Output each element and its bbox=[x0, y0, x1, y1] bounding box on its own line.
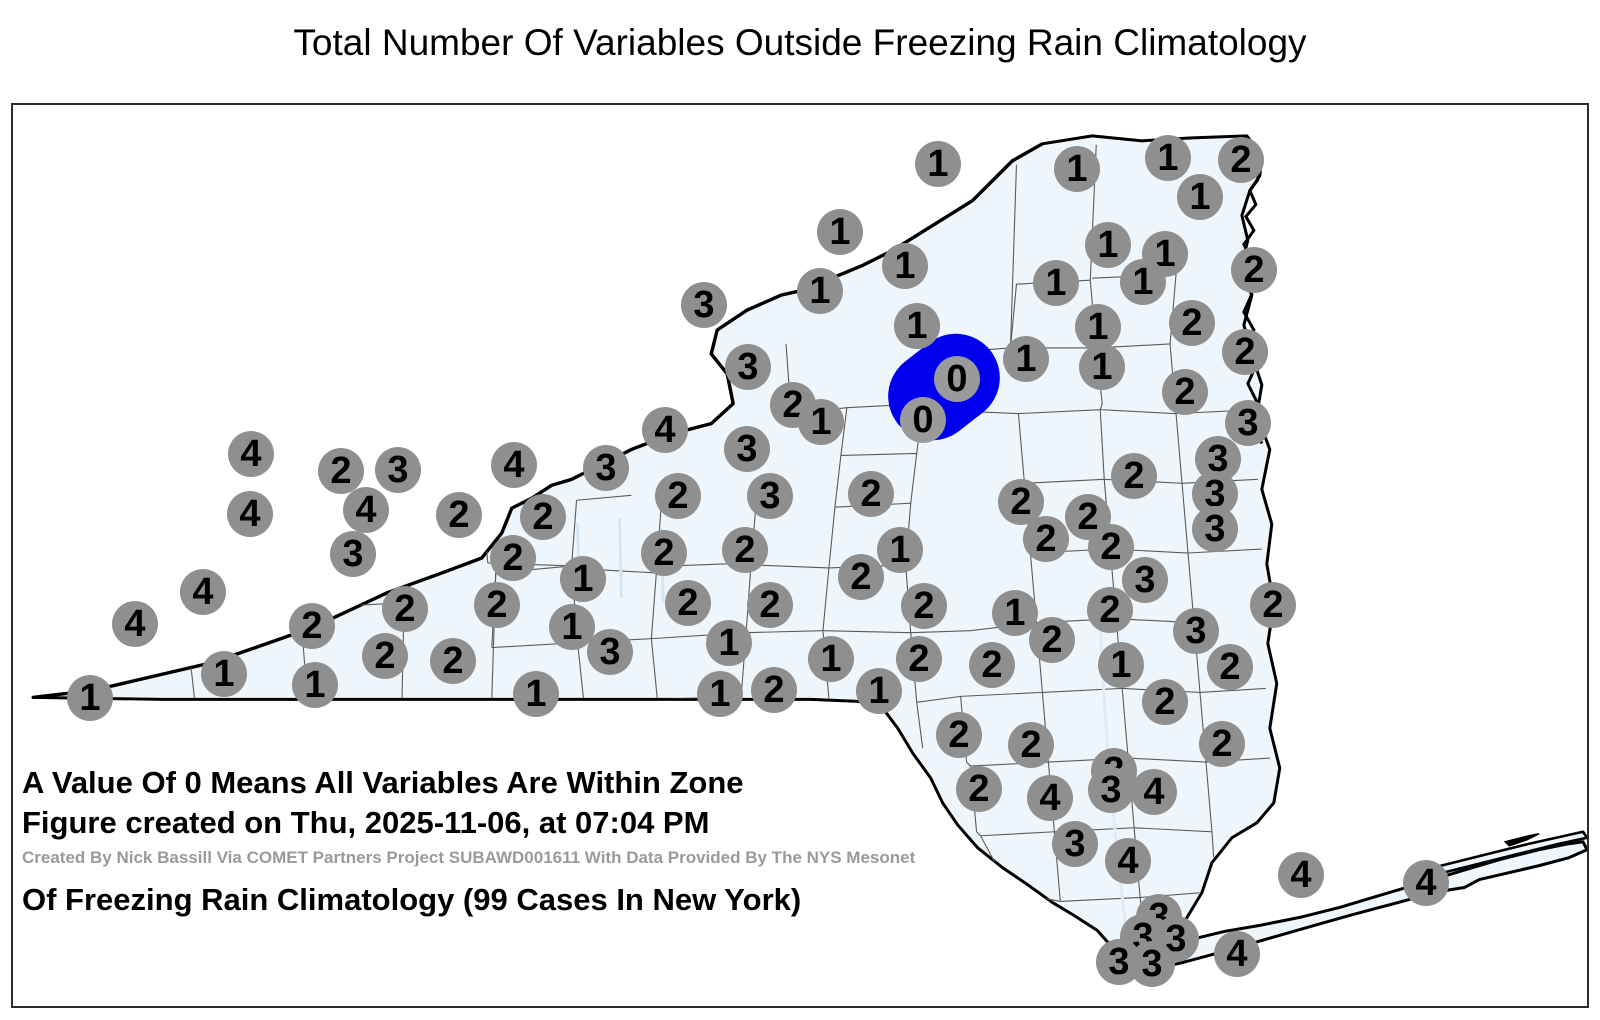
station-marker[interactable]: 1 bbox=[1145, 135, 1191, 181]
station-marker[interactable]: 2 bbox=[956, 766, 1002, 812]
station-marker[interactable]: 4 bbox=[227, 491, 273, 537]
station-marker[interactable]: 1 bbox=[201, 651, 247, 697]
station-marker[interactable]: 2 bbox=[1087, 587, 1133, 633]
station-marker[interactable]: 1 bbox=[798, 399, 844, 445]
station-marker[interactable]: 1 bbox=[808, 636, 854, 682]
station-marker[interactable]: 2 bbox=[1023, 516, 1069, 562]
station-marker[interactable]: 3 bbox=[375, 447, 421, 493]
station-marker[interactable]: 1 bbox=[1075, 304, 1121, 350]
station-marker[interactable]: 2 bbox=[1231, 247, 1277, 293]
station-marker[interactable]: 2 bbox=[1088, 524, 1134, 570]
figure-canvas: Total Number Of Variables Outside Freezi… bbox=[0, 0, 1600, 1020]
station-marker[interactable]: 4 bbox=[1403, 860, 1449, 906]
station-marker[interactable]: 4 bbox=[642, 407, 688, 453]
station-marker[interactable]: 3 bbox=[681, 282, 727, 328]
station-marker[interactable]: 1 bbox=[1033, 260, 1079, 306]
station-marker[interactable]: 2 bbox=[1111, 453, 1157, 499]
station-marker[interactable]: 2 bbox=[1199, 721, 1245, 767]
station-marker[interactable]: 3 bbox=[1225, 400, 1271, 446]
station-marker[interactable]: 1 bbox=[1120, 259, 1166, 305]
station-marker[interactable]: 2 bbox=[722, 527, 768, 573]
station-marker[interactable]: 2 bbox=[1250, 582, 1296, 628]
station-marker[interactable]: 1 bbox=[1054, 146, 1100, 192]
station-marker[interactable]: 2 bbox=[474, 582, 520, 628]
station-marker[interactable]: 4 bbox=[180, 569, 226, 615]
station-marker[interactable]: 3 bbox=[1088, 767, 1134, 813]
station-marker[interactable]: 4 bbox=[1027, 775, 1073, 821]
caption-explanation: A Value Of 0 Means All Variables Are Wit… bbox=[22, 685, 801, 997]
caption-explanation-line2: Of Freezing Rain Climatology (99 Cases I… bbox=[22, 880, 801, 919]
station-marker[interactable]: 3 bbox=[725, 344, 771, 390]
caption-created-on: Figure created on Thu, 2025-11-06, at 07… bbox=[22, 805, 709, 841]
station-marker[interactable]: 1 bbox=[513, 671, 559, 717]
station-marker[interactable]: 2 bbox=[1162, 369, 1208, 415]
station-marker[interactable]: 2 bbox=[318, 448, 364, 494]
station-marker[interactable]: 2 bbox=[751, 667, 797, 713]
station-marker[interactable]: 2 bbox=[665, 580, 711, 626]
station-marker[interactable]: 1 bbox=[856, 668, 902, 714]
station-marker[interactable]: 1 bbox=[882, 243, 928, 289]
station-marker[interactable]: 2 bbox=[1207, 644, 1253, 690]
station-marker[interactable]: 2 bbox=[382, 586, 428, 632]
station-marker[interactable]: 2 bbox=[362, 633, 408, 679]
station-marker[interactable]: 3 bbox=[724, 426, 770, 472]
station-marker[interactable]: 2 bbox=[1008, 722, 1054, 768]
station-marker[interactable]: 1 bbox=[877, 527, 923, 573]
station-marker[interactable]: 2 bbox=[1169, 300, 1215, 346]
station-marker[interactable]: 1 bbox=[894, 303, 940, 349]
station-marker[interactable]: 2 bbox=[1218, 137, 1264, 183]
station-marker[interactable]: 2 bbox=[1142, 679, 1188, 725]
station-marker[interactable]: 1 bbox=[915, 141, 961, 187]
station-marker[interactable]: 1 bbox=[1177, 174, 1223, 220]
station-marker[interactable]: 2 bbox=[641, 530, 687, 576]
station-marker[interactable]: 2 bbox=[430, 638, 476, 684]
station-marker[interactable]: 2 bbox=[838, 554, 884, 600]
station-marker[interactable]: 2 bbox=[901, 583, 947, 629]
station-marker[interactable]: 1 bbox=[1003, 336, 1049, 382]
station-marker[interactable]: 2 bbox=[1222, 329, 1268, 375]
station-marker[interactable]: 3 bbox=[583, 445, 629, 491]
station-marker[interactable]: 2 bbox=[747, 582, 793, 628]
station-marker[interactable]: 0 bbox=[934, 356, 980, 402]
page-title: Total Number Of Variables Outside Freezi… bbox=[0, 22, 1600, 64]
station-marker[interactable]: 2 bbox=[896, 636, 942, 682]
station-marker[interactable]: 2 bbox=[848, 471, 894, 517]
station-marker[interactable]: 4 bbox=[112, 601, 158, 647]
station-marker[interactable]: 3 bbox=[1052, 821, 1098, 867]
station-marker[interactable]: 1 bbox=[560, 556, 606, 602]
station-marker[interactable]: 1 bbox=[817, 209, 863, 255]
station-marker[interactable]: 1 bbox=[706, 620, 752, 666]
station-marker[interactable]: 2 bbox=[936, 712, 982, 758]
station-marker[interactable]: 3 bbox=[1192, 506, 1238, 552]
station-marker[interactable]: 4 bbox=[1214, 931, 1260, 977]
station-marker[interactable]: 1 bbox=[1085, 222, 1131, 268]
station-marker[interactable]: 2 bbox=[969, 642, 1015, 688]
station-marker[interactable]: 2 bbox=[436, 492, 482, 538]
station-marker[interactable]: 4 bbox=[1105, 838, 1151, 884]
station-marker[interactable]: 4 bbox=[1278, 852, 1324, 898]
station-marker[interactable]: 2 bbox=[655, 473, 701, 519]
station-marker[interactable]: 1 bbox=[67, 675, 113, 721]
station-marker[interactable]: 3 bbox=[587, 629, 633, 675]
caption-explanation-line1: A Value Of 0 Means All Variables Are Wit… bbox=[22, 763, 801, 802]
station-marker[interactable]: 4 bbox=[491, 442, 537, 488]
station-marker[interactable]: 2 bbox=[490, 535, 536, 581]
station-marker[interactable]: 2 bbox=[289, 603, 335, 649]
station-marker[interactable]: 1 bbox=[697, 671, 743, 717]
station-marker[interactable]: 1 bbox=[797, 268, 843, 314]
caption-credit: Created By Nick Bassill Via COMET Partne… bbox=[22, 848, 915, 868]
station-marker[interactable]: 3 bbox=[747, 473, 793, 519]
station-marker[interactable]: 0 bbox=[900, 397, 946, 443]
station-marker[interactable]: 3 bbox=[1129, 941, 1175, 987]
station-marker[interactable]: 1 bbox=[1079, 344, 1125, 390]
station-marker[interactable]: 3 bbox=[330, 531, 376, 577]
station-marker[interactable]: 3 bbox=[1173, 608, 1219, 654]
station-marker[interactable]: 1 bbox=[292, 662, 338, 708]
station-marker[interactable]: 2 bbox=[1029, 617, 1075, 663]
station-marker[interactable]: 4 bbox=[1131, 769, 1177, 815]
station-marker[interactable]: 4 bbox=[343, 487, 389, 533]
station-marker[interactable]: 2 bbox=[520, 494, 566, 540]
station-marker[interactable]: 4 bbox=[228, 431, 274, 477]
station-marker[interactable]: 1 bbox=[1098, 642, 1144, 688]
